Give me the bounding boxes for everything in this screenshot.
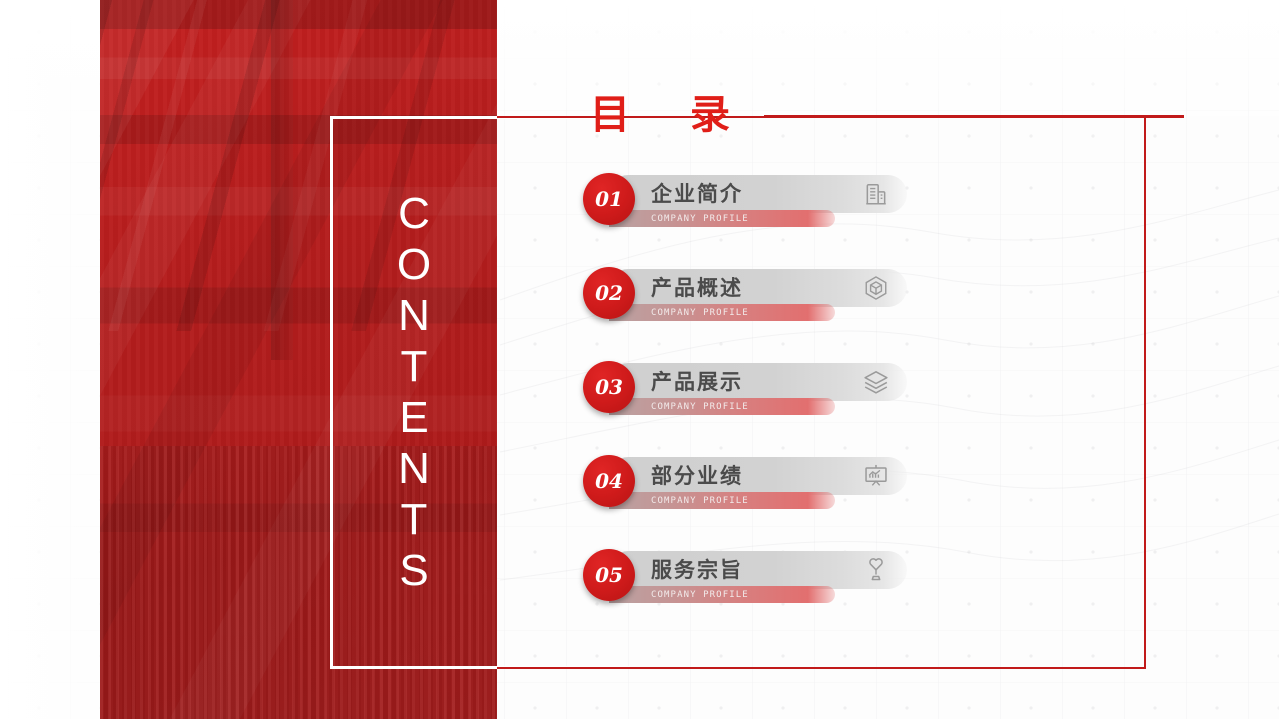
- toc-number-badge: 03: [583, 361, 635, 413]
- toc-item-05[interactable]: COMPANY PROFILE 05 服务宗旨: [583, 549, 923, 643]
- toc-item-03[interactable]: COMPANY PROFILE 03 产品展示: [583, 361, 923, 455]
- contents-text: CONTENTS: [392, 189, 436, 597]
- toc-subtitle: COMPANY PROFILE: [651, 308, 749, 318]
- toc-subtitle-bar: COMPANY PROFILE: [609, 304, 835, 321]
- toc-item-02[interactable]: COMPANY PROFILE 02 产品概述: [583, 267, 923, 361]
- toc-item-04[interactable]: COMPANY PROFILE 04 部分业绩: [583, 455, 923, 549]
- layers-icon: [863, 369, 889, 395]
- pillar-texture: [271, 0, 293, 360]
- presentation-slide: CONTENTS 目 录 COMPANY PROFILE 01 企业简介: [0, 0, 1279, 719]
- cube-hexagon-icon: [863, 275, 889, 301]
- toc-subtitle: COMPANY PROFILE: [651, 402, 749, 412]
- table-of-contents-list: COMPANY PROFILE 01 企业简介 COMPANY PROFILE …: [583, 173, 923, 643]
- toc-subtitle-bar: COMPANY PROFILE: [609, 492, 835, 509]
- title-divider-rule: [764, 115, 1184, 118]
- building-icon: [863, 181, 889, 207]
- contents-vertical-label: CONTENTS: [330, 116, 497, 669]
- heart-trophy-icon: [863, 557, 889, 583]
- toc-subtitle: COMPANY PROFILE: [651, 214, 749, 224]
- toc-label: 产品概述: [651, 271, 743, 305]
- toc-number-badge: 04: [583, 455, 635, 507]
- toc-label: 部分业绩: [651, 459, 743, 493]
- page-title-text: 目 录: [590, 94, 740, 136]
- toc-number-badge: 02: [583, 267, 635, 319]
- toc-label: 服务宗旨: [651, 553, 743, 587]
- toc-label: 产品展示: [651, 365, 743, 399]
- toc-number-badge: 01: [583, 173, 635, 225]
- toc-subtitle: COMPANY PROFILE: [651, 590, 749, 600]
- presentation-chart-icon: [863, 463, 889, 489]
- toc-subtitle-bar: COMPANY PROFILE: [609, 210, 835, 227]
- toc-number-badge: 05: [583, 549, 635, 601]
- toc-subtitle-bar: COMPANY PROFILE: [609, 398, 835, 415]
- toc-item-01[interactable]: COMPANY PROFILE 01 企业简介: [583, 173, 923, 267]
- toc-subtitle-bar: COMPANY PROFILE: [609, 586, 835, 603]
- toc-subtitle: COMPANY PROFILE: [651, 496, 749, 506]
- toc-label: 企业简介: [651, 177, 743, 211]
- page-title: 目 录: [590, 94, 1184, 136]
